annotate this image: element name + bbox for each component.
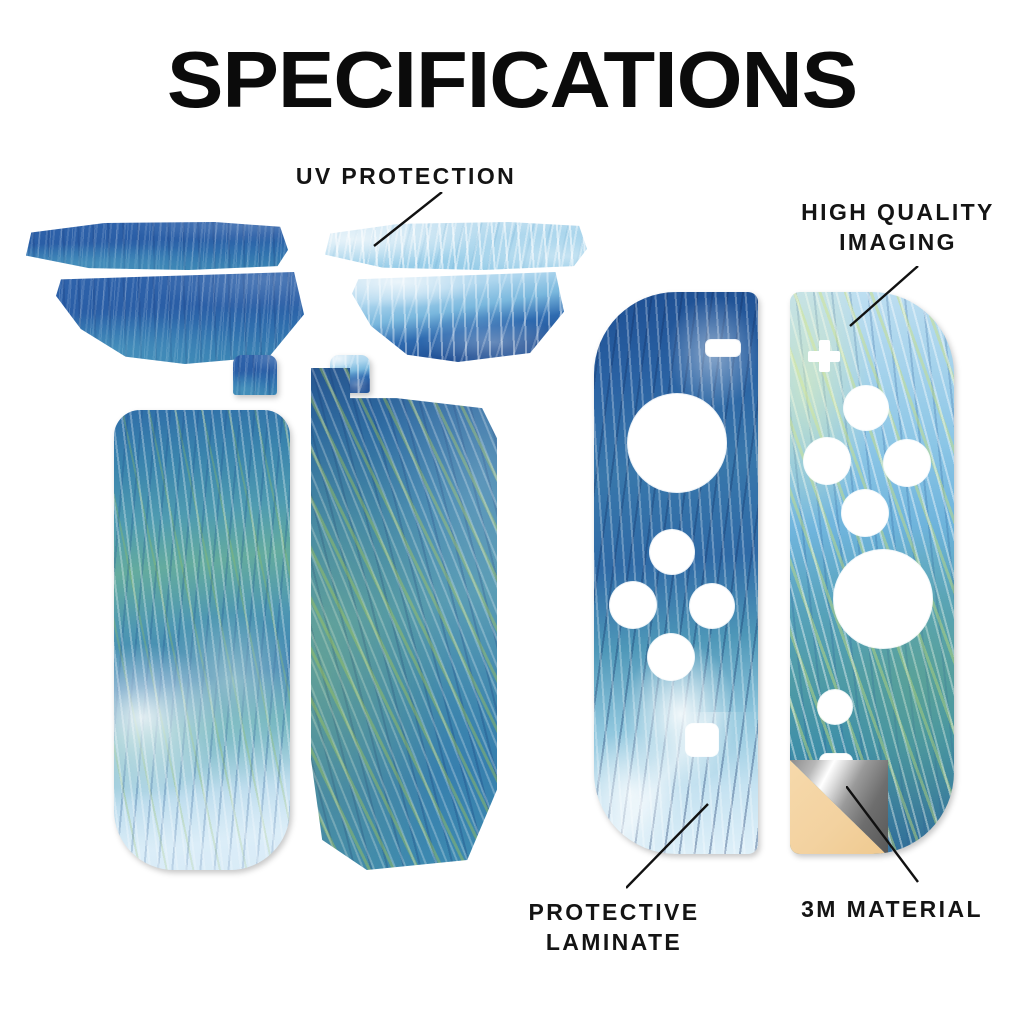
- dpad-right-cutout: [690, 584, 734, 628]
- callout-label-3m-material: 3M MATERIAL: [760, 895, 1024, 925]
- leader-line-high-quality-imaging: [846, 266, 922, 330]
- specification-sheet: SPECIFICATIONS: [0, 0, 1024, 1024]
- artwork-texture: [56, 272, 304, 364]
- artwork-texture: [26, 222, 288, 270]
- capture-button-cutout: [686, 724, 718, 756]
- artwork-texture: [352, 272, 564, 362]
- button-y-cutout: [804, 438, 850, 484]
- button-b-cutout: [842, 490, 888, 536]
- leader-line-uv-protection: [370, 192, 450, 250]
- console-back-strip-right: [352, 272, 564, 362]
- button-a-cutout: [884, 440, 930, 486]
- page-title: SPECIFICATIONS: [0, 40, 1024, 120]
- callout-label-uv-protection: UV PROTECTION: [206, 162, 606, 192]
- callout-label-high-quality-imaging: HIGH QUALITY IMAGING: [772, 198, 1024, 258]
- leader-line-protective-laminate: [626, 800, 712, 892]
- plus-button-cutout: [808, 340, 840, 372]
- artwork-texture: [311, 368, 497, 870]
- dpad-down-cutout: [648, 634, 694, 680]
- console-side-panel-right: [311, 368, 497, 870]
- leader-line-3m-material: [846, 786, 924, 886]
- console-top-strip-left: [26, 222, 288, 270]
- joycon-left-face: [594, 292, 758, 854]
- console-tab-left: [233, 355, 277, 395]
- console-side-panel-left: [114, 410, 290, 870]
- home-button-cutout: [818, 690, 852, 724]
- console-top-strip-right: [325, 222, 587, 270]
- dpad-up-cutout: [650, 530, 694, 574]
- callout-label-protective-laminate: PROTECTIVE LAMINATE: [455, 898, 773, 958]
- artwork-texture: [325, 222, 587, 270]
- console-back-strip-left: [56, 272, 304, 364]
- joycon-right-face: [790, 292, 954, 854]
- analog-stick-cutout: [834, 550, 932, 648]
- artwork-texture: [233, 355, 277, 395]
- button-x-cutout: [844, 386, 888, 430]
- dpad-left-cutout: [610, 582, 656, 628]
- sl-slot-cutout: [706, 340, 740, 356]
- analog-stick-cutout: [628, 394, 726, 492]
- artwork-texture: [114, 410, 290, 870]
